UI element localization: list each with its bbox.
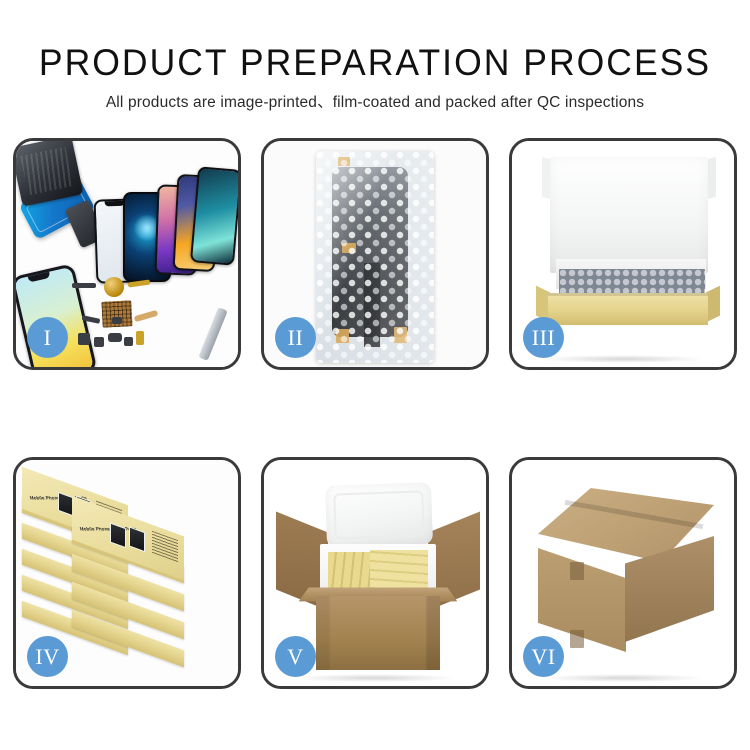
carton-shadow-graphic xyxy=(295,674,455,682)
process-step-panel-5: V xyxy=(261,457,489,689)
carton-tape-upper-graphic xyxy=(570,562,584,580)
sim-tray-graphic xyxy=(124,337,133,346)
step-badge-4: IV xyxy=(27,636,68,677)
step-badge-1: I xyxy=(27,317,68,358)
carton-body-graphic xyxy=(316,596,440,670)
carton-tape-lower-graphic xyxy=(570,630,584,648)
process-step-panel-4: Mobile Phone Spare Parts Mobile Phone Sp… xyxy=(13,457,241,689)
plastic-sheen-overlay xyxy=(316,151,434,363)
page-subtitle: All products are image-printed、film-coat… xyxy=(0,84,750,113)
camera-module-graphic xyxy=(78,333,90,345)
speaker-module-graphic xyxy=(104,277,124,297)
page-header: PRODUCT PREPARATION PROCESS All products… xyxy=(0,0,750,113)
connector-graphic xyxy=(136,331,144,345)
step-badge-3: III xyxy=(523,317,564,358)
vibrator-graphic xyxy=(94,337,104,347)
box-lid-graphic xyxy=(550,157,708,273)
page-title: PRODUCT PREPARATION PROCESS xyxy=(15,0,735,84)
teal-gradient-phone-graphic xyxy=(190,166,238,265)
box-shadow-graphic xyxy=(543,355,703,363)
button-flex-graphic xyxy=(108,333,122,342)
process-step-panel-3: III xyxy=(509,138,737,370)
process-step-panel-2: II xyxy=(261,138,489,370)
earpiece-mesh-graphic xyxy=(72,283,96,288)
step-badge-6: VI xyxy=(523,636,564,677)
bubble-wrap-package-graphic xyxy=(316,151,434,363)
process-step-grid: I II xyxy=(13,138,737,738)
sealed-carton-shadow-graphic xyxy=(543,674,703,682)
box-front-panel-graphic xyxy=(548,293,708,325)
step-badge-2: II xyxy=(275,317,316,358)
process-step-panel-1: I xyxy=(13,138,241,370)
step-badge-5: V xyxy=(275,636,316,677)
ic-chip-graphic xyxy=(112,317,122,324)
foam-box-lid-graphic xyxy=(325,482,433,548)
process-step-panel-6: VI xyxy=(509,457,737,689)
